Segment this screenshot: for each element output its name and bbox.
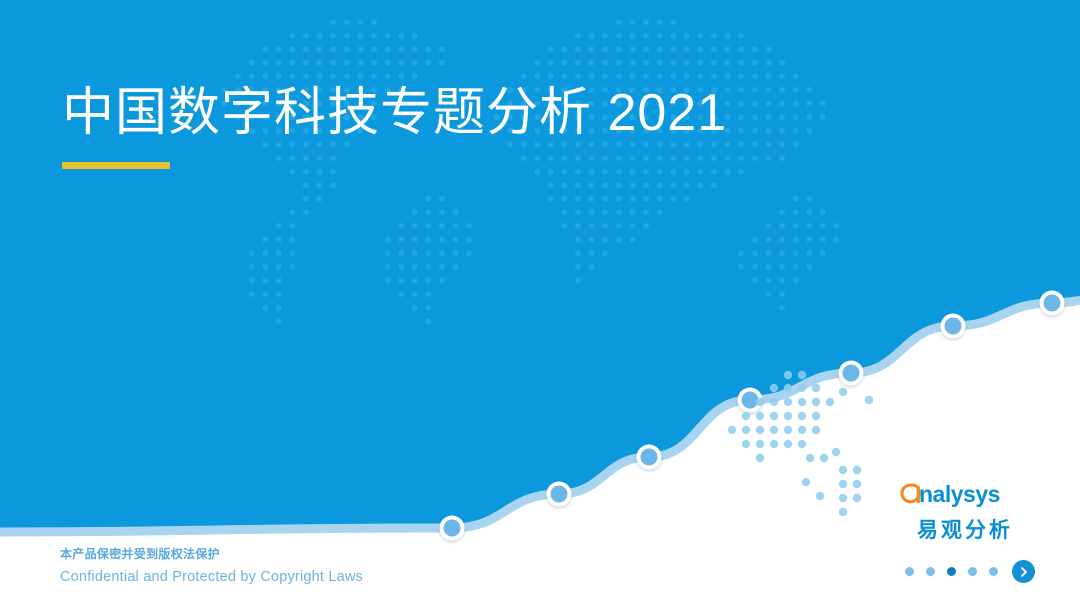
analysys-logo-cn: 易观分析 [900, 514, 1030, 544]
chevron-right-icon [1018, 566, 1030, 578]
next-slide-button[interactable] [1012, 560, 1035, 583]
svg-text:nalysys: nalysys [919, 481, 1000, 507]
copyright-footer: 本产品保密并受到版权法保护 Confidential and Protected… [60, 546, 363, 588]
title-slide: 中国数字科技专题分析 2021 本产品保密并受到版权法保护 Confidenti… [0, 0, 1080, 608]
pager-dot[interactable] [968, 567, 977, 576]
analysys-logo: nalysys 易观分析 [900, 478, 1030, 544]
pager-dot[interactable] [926, 567, 935, 576]
page-title: 中国数字科技专题分析 2021 [62, 84, 942, 144]
title-block: 中国数字科技专题分析 2021 [62, 84, 942, 169]
analysys-wordmark-icon: nalysys [900, 478, 1030, 512]
title-accent-rule [62, 162, 170, 169]
copyright-notice-cn: 本产品保密并受到版权法保护 [60, 546, 363, 562]
pager-dot-active[interactable] [947, 567, 956, 576]
copyright-notice-en: Confidential and Protected by Copyright … [60, 568, 363, 588]
pager-dot[interactable] [905, 567, 914, 576]
slide-pagination[interactable] [905, 560, 1035, 583]
pager-dot[interactable] [989, 567, 998, 576]
